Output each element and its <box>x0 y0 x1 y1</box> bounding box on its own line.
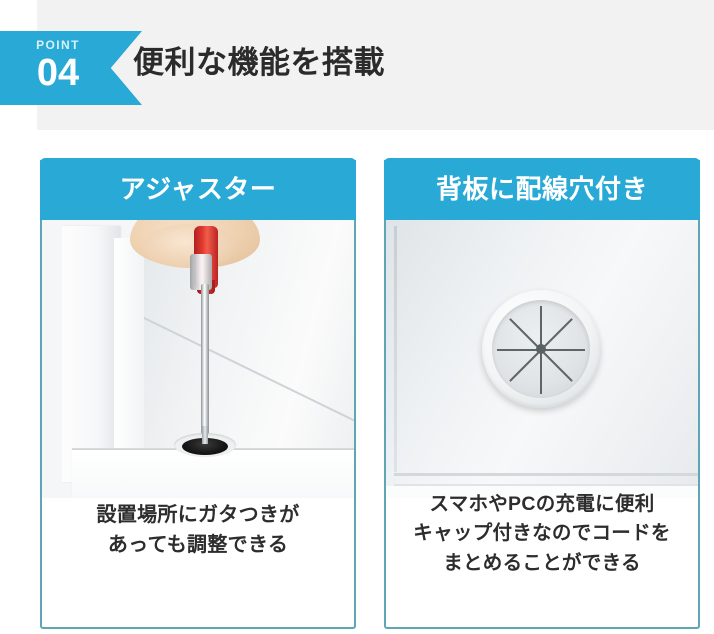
grommet-slit <box>497 349 541 351</box>
grommet-center-hub <box>536 344 546 354</box>
adjuster-screwdriver-photo <box>42 220 354 498</box>
caption-line: スマホやPCの充電に便利 <box>386 490 698 519</box>
page-header: POINT 04 便利な機能を搭載 <box>0 0 714 130</box>
card-header-adjuster: アジャスター <box>40 158 356 220</box>
feature-card-list: アジャスター 設置場所にガタつきが <box>0 160 714 634</box>
cabinet-inner-panel <box>114 238 144 474</box>
grommet-cap <box>492 300 590 398</box>
caption-line: 設置場所にガタつきが <box>42 500 354 530</box>
adjuster-photo-scene <box>42 220 354 498</box>
card-title-adjuster: アジャスター <box>120 176 277 202</box>
cabinet-side-panel <box>62 226 120 482</box>
screwdriver-tip <box>202 426 208 444</box>
caption-line: あっても調整できる <box>42 530 354 560</box>
grommet-photo-scene <box>386 220 698 498</box>
back-panel-left-edge <box>394 226 397 472</box>
card-caption-cable-hole: スマホやPCの充電に便利 キャップ付きなのでコードを まとめることができる <box>386 490 698 578</box>
point-badge-label: POINT <box>0 31 142 51</box>
feature-card-cable-hole: 背板に配線穴付き <box>384 160 700 629</box>
screwdriver-shaft <box>201 284 209 434</box>
feature-card-adjuster: アジャスター 設置場所にガタつきが <box>40 160 356 629</box>
grommet-slit <box>540 350 542 394</box>
page-title: 便利な機能を搭載 <box>133 44 385 81</box>
card-caption-adjuster: 設置場所にガタつきが あっても調整できる <box>42 500 354 560</box>
caption-line: キャップ付きなのでコードを <box>386 519 698 548</box>
card-title-cable-hole: 背板に配線穴付き <box>436 176 648 202</box>
caption-line: まとめることができる <box>386 549 698 578</box>
back-panel-bottom-edge <box>394 473 698 476</box>
grommet-slit <box>540 349 573 382</box>
grommet-ring <box>482 290 600 408</box>
grommet-slit <box>541 349 585 351</box>
cable-grommet-photo <box>386 220 698 498</box>
card-header-cable-hole: 背板に配線穴付き <box>384 158 700 220</box>
cabinet-floor <box>72 450 354 498</box>
grommet-slit <box>509 349 542 382</box>
